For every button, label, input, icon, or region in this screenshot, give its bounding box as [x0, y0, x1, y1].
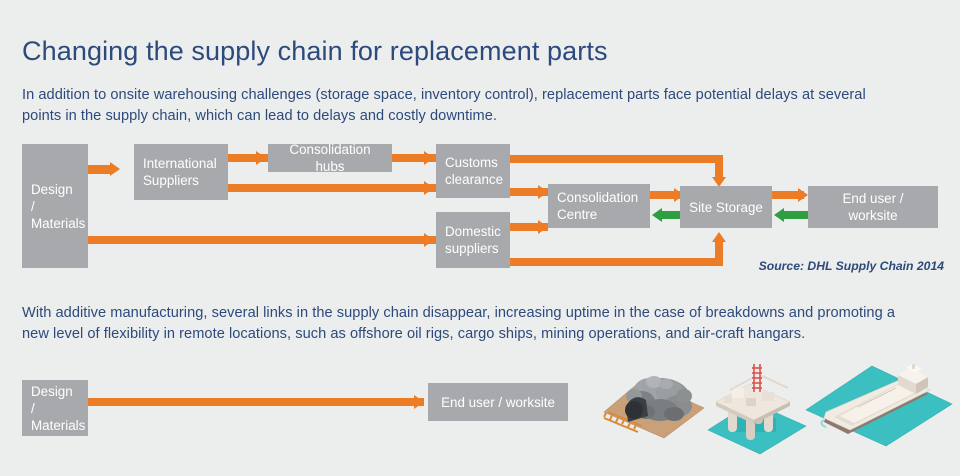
flow-customs-top-rail [510, 155, 719, 163]
node-end-user-worksite[interactable]: End user / worksite [808, 186, 938, 228]
flow-intl-suppliers-to-customs [228, 184, 436, 192]
arrowhead-intl-suppliers-to-hubs [256, 151, 266, 165]
node-label: Consolidation Centre [557, 189, 641, 223]
arrowhead-domestic-to-site-storage [712, 232, 726, 242]
node-customs-clearance[interactable]: Customs clearance [436, 144, 510, 198]
flow-domestic-bottom-rail [510, 258, 723, 266]
node-label: Customs clearance [445, 154, 501, 188]
oil-rig-illustration [702, 362, 812, 462]
node-label: Site Storage [689, 199, 763, 216]
intro-paragraph: In addition to onsite warehousing challe… [22, 85, 892, 127]
slide-canvas: Changing the supply chain for replacemen… [0, 0, 960, 476]
source-note: Source: DHL Supply Chain 2014 [759, 259, 944, 273]
node-label: International Suppliers [143, 155, 219, 189]
flow-domestic-rise-to-site-storage [715, 241, 723, 266]
flow-design-to-domestic-suppliers [88, 236, 436, 244]
node-label: Design / Materials [31, 181, 79, 232]
flow-customs-drop-to-site-storage [715, 155, 723, 179]
page-title: Changing the supply chain for replacemen… [22, 36, 608, 67]
flow-design-to-intl-suppliers [88, 165, 112, 174]
node-site-storage[interactable]: Site Storage [680, 186, 772, 228]
flow-design-to-end-user-bottom [88, 398, 424, 406]
node-label: Design / Materials [31, 383, 79, 434]
node-consolidation-centre[interactable]: Consolidation Centre [548, 184, 650, 228]
additive-manufacturing-paragraph: With additive manufacturing, several lin… [22, 303, 902, 345]
node-design-materials-bottom[interactable]: Design / Materials [22, 380, 88, 436]
node-label: Consolidation hubs [277, 141, 383, 175]
mine-illustration [598, 366, 714, 462]
node-domestic-suppliers[interactable]: Domestic suppliers [436, 212, 510, 268]
arrowhead-domestic-to-consolidation-centre [538, 220, 548, 234]
node-end-user-worksite-bottom[interactable]: End user / worksite [428, 383, 568, 421]
arrowhead-site-storage-to-end-user [798, 188, 808, 202]
arrowhead-design-to-intl-suppliers [110, 162, 120, 176]
arrowhead-intl-suppliers-to-customs [424, 181, 434, 195]
arrowhead-customs-to-consolidation-centre [538, 185, 548, 199]
derrick-tower [752, 364, 762, 392]
arrowhead-site-storage-to-consolidation-centre [652, 208, 662, 222]
cargo-ship-illustration [800, 364, 958, 464]
node-design-materials[interactable]: Design / Materials [22, 144, 88, 268]
arrowhead-end-user-to-site-storage [774, 208, 784, 222]
crane-boom [762, 376, 788, 388]
node-consolidation-hubs[interactable]: Consolidation hubs [268, 144, 392, 172]
node-label: End user / worksite [441, 394, 555, 411]
arrowhead-hubs-to-customs [424, 151, 434, 165]
arrowhead-design-to-domestic-suppliers [424, 233, 434, 247]
node-label: Domestic suppliers [445, 223, 501, 257]
node-label: End user / worksite [817, 190, 929, 224]
arrowhead-design-to-end-user-bottom [414, 395, 424, 409]
node-international-suppliers[interactable]: International Suppliers [134, 144, 228, 200]
